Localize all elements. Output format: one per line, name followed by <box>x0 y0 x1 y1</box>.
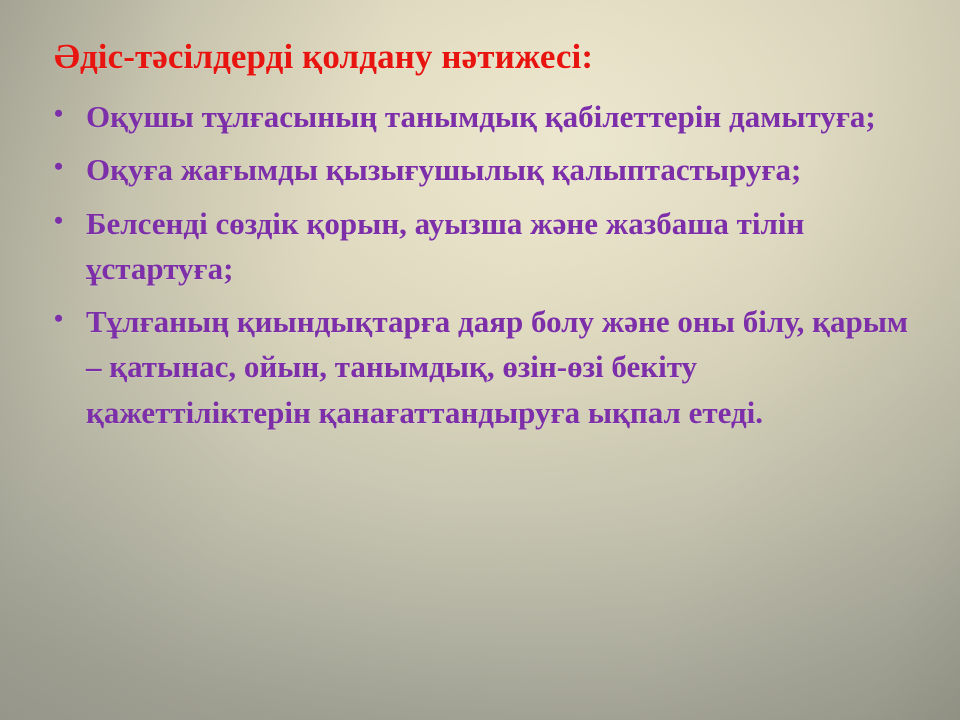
slide-title: Әдіс-тәсілдерді қолдану нәтижесі: <box>54 36 914 77</box>
list-item: • Белсенді сөздік қорын, ауызша және жаз… <box>40 201 930 292</box>
bullet-list: • Оқушы тұлғасының танымдық қабілеттерін… <box>40 94 930 435</box>
list-item-text: Оқушы тұлғасының танымдық қабілеттерін д… <box>86 94 930 139</box>
list-item-text: Оқуға жағымды қызығушылық қалыптастыруға… <box>86 147 930 192</box>
bullet-point-icon: • <box>40 299 86 340</box>
bullet-point-icon: • <box>40 201 86 242</box>
list-item-text: Белсенді сөздік қорын, ауызша және жазба… <box>86 201 930 292</box>
bullet-point-icon: • <box>40 147 86 188</box>
list-item-text: Тұлғаның қиындықтарға даяр болу және оны… <box>86 299 930 435</box>
list-item: • Оқуға жағымды қызығушылық қалыптастыру… <box>40 147 930 192</box>
presentation-slide: Әдіс-тәсілдерді қолдану нәтижесі: • Оқуш… <box>0 0 960 720</box>
bullet-point-icon: • <box>40 94 86 135</box>
list-item: • Тұлғаның қиындықтарға даяр болу және о… <box>40 299 930 435</box>
list-item: • Оқушы тұлғасының танымдық қабілеттерін… <box>40 94 930 139</box>
